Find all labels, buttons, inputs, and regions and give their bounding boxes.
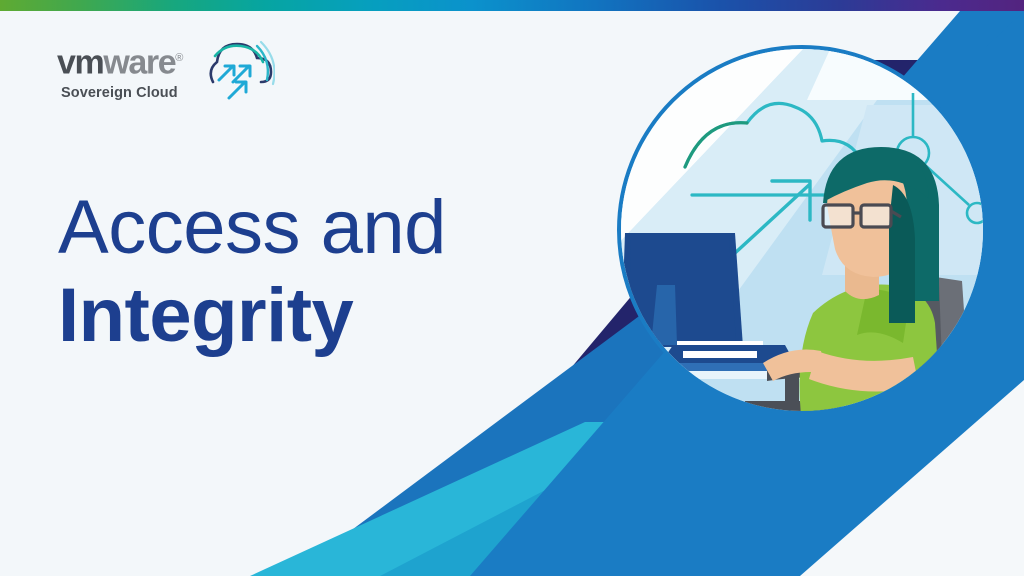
- vmware-wordmark: vmware®: [57, 40, 183, 80]
- vmware-wordmark-bold: vm: [57, 44, 103, 82]
- logo-wordmark: vmware® Sovereign Cloud: [57, 40, 183, 101]
- person-at-computer-illustration: [617, 45, 987, 415]
- glasses-icon: [823, 205, 901, 227]
- registered-trademark-icon: ®: [175, 52, 183, 64]
- title-line-1: Access and: [58, 186, 446, 270]
- cloud-with-arrows-icon: [199, 38, 275, 104]
- logo-sublabel: Sovereign Cloud: [61, 84, 178, 102]
- vmware-wordmark-light: ware: [103, 44, 175, 82]
- illustration-circle: [617, 45, 987, 415]
- upper-white-band: [807, 45, 987, 100]
- vmware-sovereign-cloud-logo: vmware® Sovereign Cloud: [57, 38, 275, 104]
- page-title: Access and Integrity: [58, 186, 446, 358]
- slide-canvas: vmware® Sovereign Cloud Access and Integ…: [0, 0, 1024, 576]
- title-line-2: Integrity: [58, 274, 446, 358]
- gradient-accent-bar: [0, 0, 1024, 11]
